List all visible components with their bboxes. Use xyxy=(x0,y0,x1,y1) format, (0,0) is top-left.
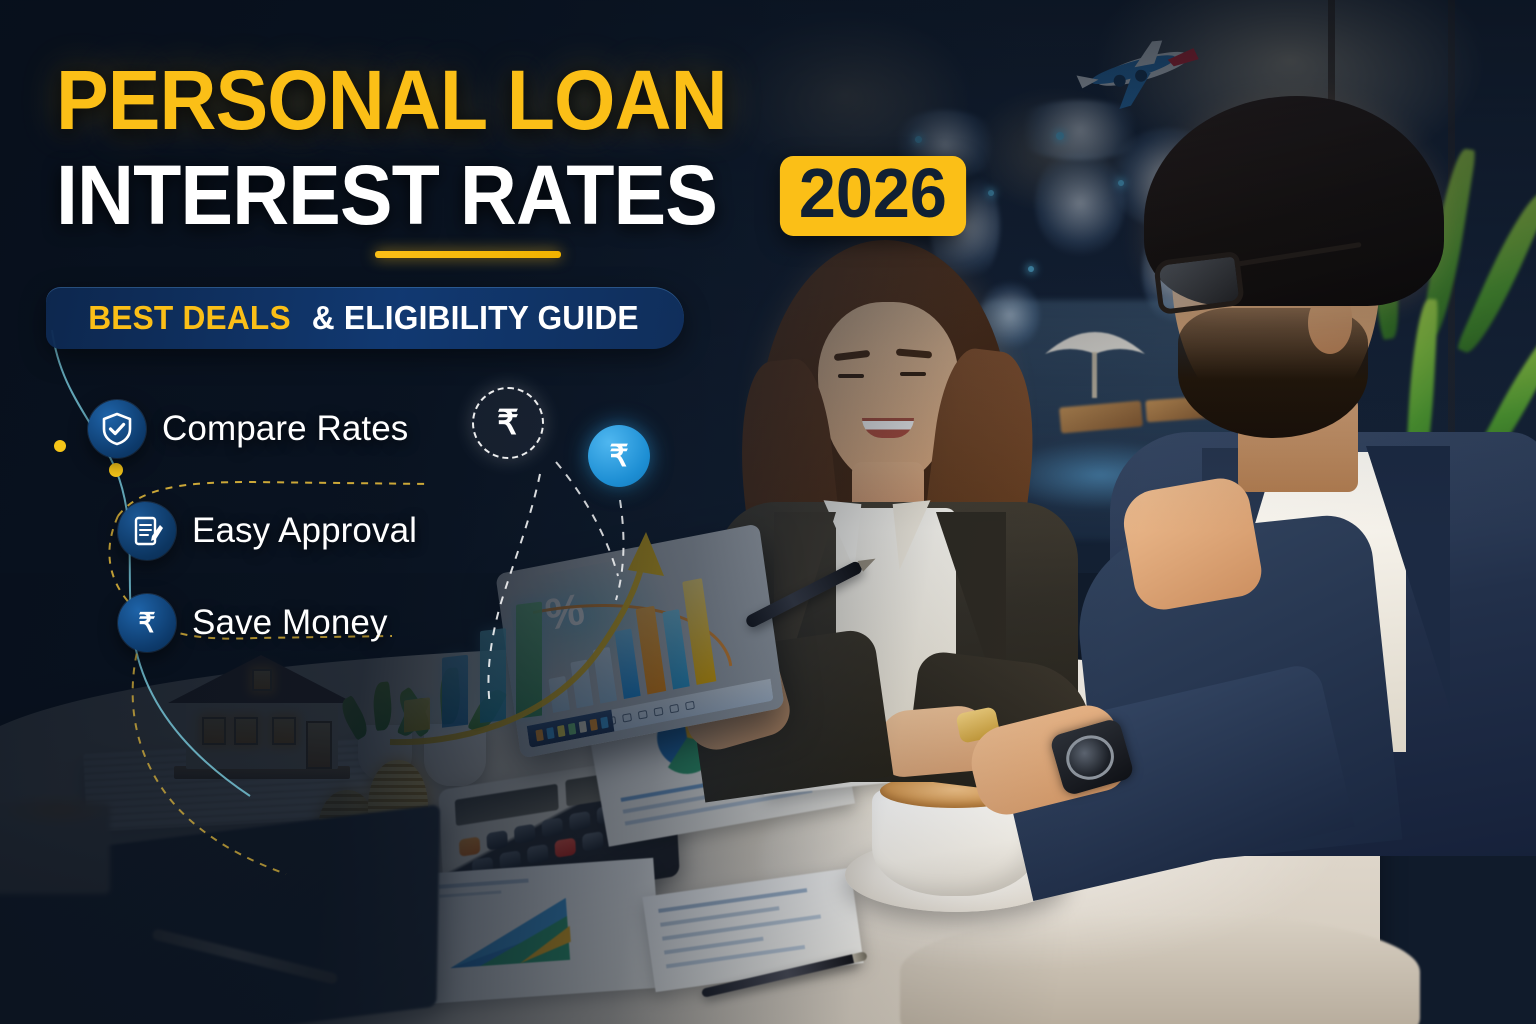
headline-line-2-row: INTEREST RATES 2026 xyxy=(56,147,971,244)
rupee-icon: ₹ xyxy=(118,594,176,652)
subtitle-highlight: BEST DEALS xyxy=(88,299,291,337)
document-pen-icon xyxy=(118,502,176,560)
headline-line-2: INTEREST RATES xyxy=(56,147,717,244)
feature-item-compare-rates[interactable]: Compare Rates xyxy=(88,400,408,458)
banner-content: PERSONAL LOAN INTEREST RATES 2026 BEST D… xyxy=(0,0,1536,1024)
rupee-chip-solid: ₹ xyxy=(588,425,650,487)
year-badge: 2026 xyxy=(780,156,966,236)
subtitle-pill: BEST DEALS & ELIGIBILITY GUIDE xyxy=(46,287,684,349)
shield-check-icon xyxy=(88,400,146,458)
feature-label: Compare Rates xyxy=(162,409,408,449)
svg-text:₹: ₹ xyxy=(138,608,155,638)
feature-label: Easy Approval xyxy=(192,511,417,551)
feature-item-save-money[interactable]: ₹ Save Money xyxy=(118,594,388,652)
feature-label: Save Money xyxy=(192,603,388,643)
subtitle-rest: & ELIGIBILITY GUIDE xyxy=(312,299,639,337)
headline-line-1: PERSONAL LOAN xyxy=(56,52,727,149)
promotional-banner: % xyxy=(0,0,1536,1024)
yellow-divider xyxy=(375,251,561,258)
rupee-chip-outline: ₹ xyxy=(472,387,544,459)
feature-item-easy-approval[interactable]: Easy Approval xyxy=(118,502,417,560)
